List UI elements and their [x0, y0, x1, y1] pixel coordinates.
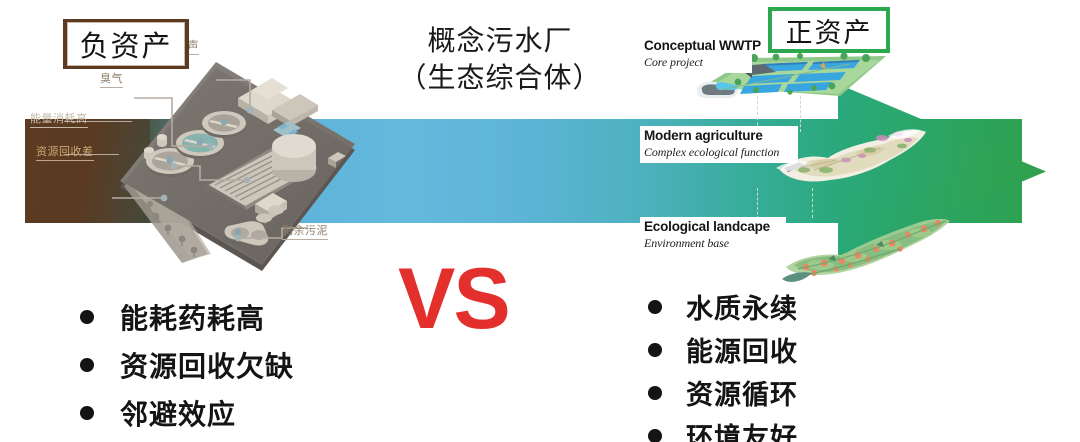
bullet-dot-icon [648, 386, 662, 400]
plant-callout-odor: 臭气 [100, 70, 123, 88]
negative-asset-badge-inner: 负资产 [67, 22, 185, 66]
bullet-dot-icon [648, 429, 662, 442]
list-item: 能源回收 [648, 330, 798, 369]
page-title: 概念污水厂 （生态综合体） [380, 23, 620, 97]
positive-bullet-3: 环境友好 [686, 416, 798, 442]
label-conceptual-wwtp-title: Conceptual WWTP [644, 38, 746, 53]
dash-connector-4 [812, 188, 813, 218]
page-title-line2: （生态综合体） [380, 60, 620, 97]
conventional-wwtp-illustration [112, 58, 362, 283]
positive-asset-badge-inner: 正资产 [772, 11, 886, 49]
label-modern-agriculture: Modern agriculture Complex ecological fu… [640, 126, 798, 163]
list-item: 资源回收欠缺 [80, 345, 294, 385]
positive-bullet-list: 水质永续 能源回收 资源循环 环境友好 [648, 287, 798, 442]
label-modern-agriculture-title: Modern agriculture [644, 128, 792, 143]
slide-canvas: 臭气 噪声 能量消耗高 资源回收差 剩余污泥 [0, 0, 1080, 442]
list-item: 水质永续 [648, 287, 798, 326]
label-conceptual-wwtp-subtitle: Core project [644, 55, 746, 70]
versus-label: VS [398, 256, 509, 342]
positive-asset-badge-label: 正资产 [786, 11, 873, 50]
ecological-landscape-illustration [780, 205, 952, 287]
dash-connector-2 [800, 96, 801, 132]
negative-bullet-0: 能耗药耗高 [120, 297, 265, 337]
bullet-dot-icon [648, 343, 662, 357]
bullet-dot-icon [80, 358, 94, 372]
positive-bullet-1: 能源回收 [686, 330, 798, 369]
label-ecological-landscape-title: Ecological landcape [644, 219, 780, 234]
list-item: 邻避效应 [80, 393, 294, 433]
bullet-dot-icon [80, 310, 94, 324]
negative-asset-badge: 负资产 [63, 19, 189, 69]
positive-asset-badge: 正资产 [768, 7, 890, 53]
label-ecological-landscape-subtitle: Environment base [644, 236, 780, 251]
plant-callout-energy-consumption: 能量消耗高 [30, 110, 88, 128]
positive-bullet-0: 水质永续 [686, 287, 798, 326]
negative-bullet-1: 资源回收欠缺 [120, 345, 294, 385]
bullet-dot-icon [80, 406, 94, 420]
negative-bullet-2: 邻避效应 [120, 393, 236, 433]
negative-asset-badge-label: 负资产 [79, 23, 172, 65]
label-ecological-landscape: Ecological landcape Environment base [640, 217, 786, 254]
list-item: 环境友好 [648, 416, 798, 442]
positive-bullet-2: 资源循环 [686, 373, 798, 412]
plant-callout-poor-resource-recovery: 资源回收差 [36, 143, 94, 161]
label-conceptual-wwtp: Conceptual WWTP Core project [640, 36, 752, 73]
list-item: 能耗药耗高 [80, 297, 294, 337]
negative-bullet-list: 能耗药耗高 资源回收欠缺 邻避效应 [80, 297, 294, 441]
plant-callout-excess-sludge: 剩余污泥 [282, 222, 328, 240]
label-modern-agriculture-subtitle: Complex ecological function [644, 145, 792, 160]
list-item: 资源循环 [648, 373, 798, 412]
bullet-dot-icon [648, 300, 662, 314]
page-title-line1: 概念污水厂 [427, 26, 572, 57]
